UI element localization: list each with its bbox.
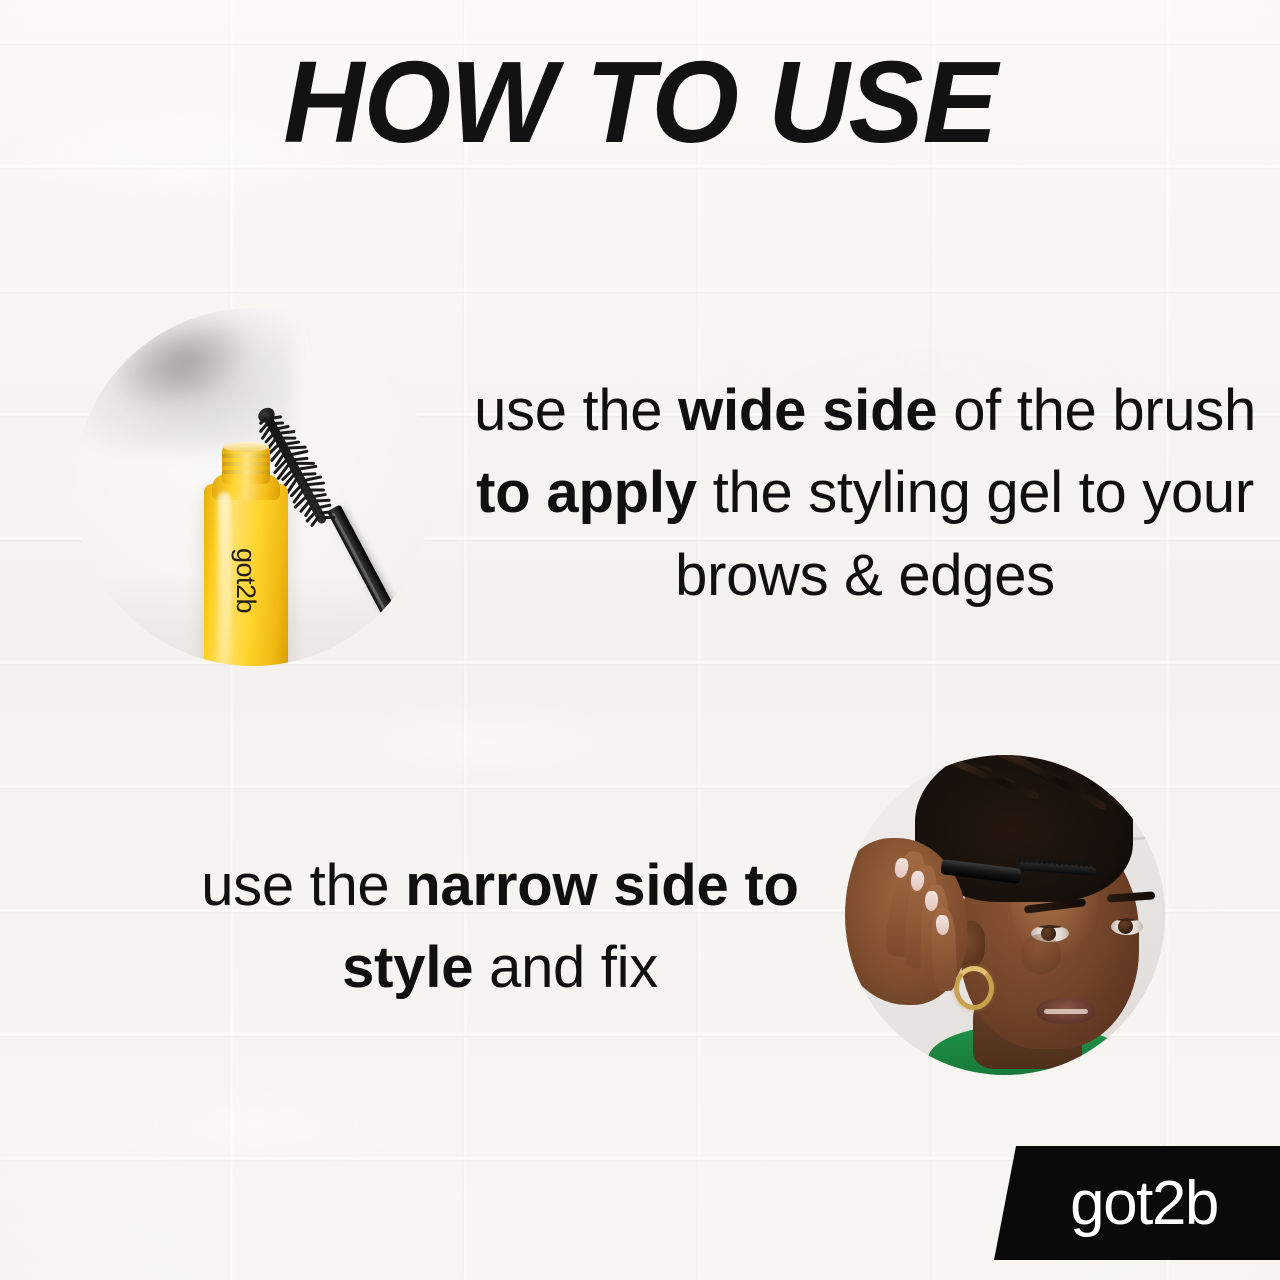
model-eye-right [1111,918,1143,935]
step-text-narrow-side: use the narrow side to style and fix [150,845,850,1010]
brush-bristle [322,516,335,519]
wand-handle [327,504,412,645]
model-nose [1021,934,1061,974]
model-photo-circle [845,755,1165,1075]
brush-bristle [297,465,319,471]
brush-bristle [277,430,295,435]
step-text-wide-side: use the wide side of the brush to apply … [470,370,1260,617]
emphasis-text: wide side [678,378,937,443]
bottle-label: got2b [204,532,288,628]
body-text: of the brush [937,378,1256,443]
brush-bristle [319,510,331,514]
infographic-canvas: HOW TO USE got2b use the wide [0,0,1280,1280]
hoop-earring [954,966,994,1010]
brush-bristle [314,499,331,503]
body-text: use the [474,378,678,443]
bottle-mouth [223,442,269,452]
model-eyelid-left [1031,925,1069,928]
brush-bristle [285,445,306,449]
bottle-thread [222,454,270,458]
brush-bristle [305,482,326,487]
brush-bristle [311,493,327,498]
bottle-brand-text: got2b [230,547,261,612]
model-fingernail [935,914,949,934]
page-title: HOW TO USE [19,44,1261,160]
product-bottle: got2b [204,440,288,666]
brush-bristle [280,436,296,439]
brand-logo-text: got2b [1070,1168,1218,1239]
brush-bristle [269,415,283,420]
bottle-thread [222,462,270,466]
emphasis-text: to apply [476,460,697,525]
brush-bristle [308,489,325,492]
brush-bristle [272,421,284,425]
brush-bristle [288,449,308,456]
body-text: the styling gel to your brows & edges [675,460,1254,607]
model-iris-right [1118,919,1133,934]
model-eyelid-right [1111,918,1143,921]
body-text: and fix [473,935,658,1000]
brush-bristle [294,461,315,464]
brush-wand-graphic [274,390,424,640]
brand-logo-badge: got2b [994,1146,1280,1260]
bottle-thread [222,470,270,474]
model-lips [1037,998,1095,1024]
body-text: use the [201,853,405,918]
product-photo-circle: got2b [74,308,432,666]
